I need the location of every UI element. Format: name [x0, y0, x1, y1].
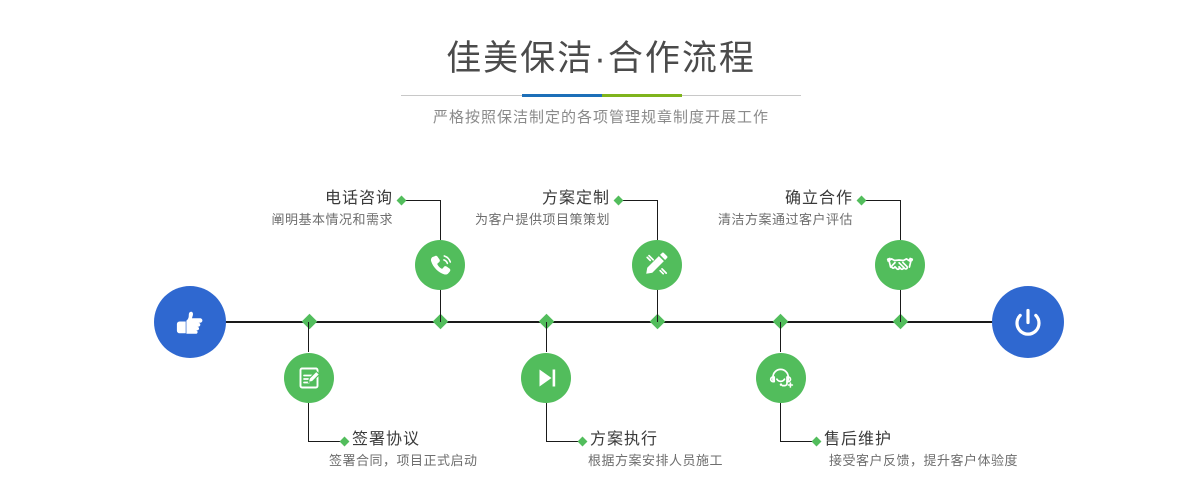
step-4-connector-v: [546, 403, 547, 441]
step-6-title: 售后维护: [824, 429, 1124, 451]
step-5-connector-h: [865, 200, 901, 201]
page-title: 佳美保洁·合作流程: [0, 36, 1202, 81]
process-flow-infographic: 佳美保洁·合作流程 严格按照保洁制定的各项管理规章制度开展工作: [0, 0, 1202, 502]
title-divider: [401, 94, 801, 97]
step-1-stem: [440, 285, 441, 322]
step-6-label: 售后维护 接受客户反馈，提升客户体验度: [824, 429, 1124, 471]
power-icon: [1008, 302, 1048, 342]
step-4-node: [521, 353, 571, 403]
timeline-start-node: [154, 286, 226, 358]
step-3-stem: [657, 285, 658, 322]
headset-support-icon: [766, 363, 796, 393]
step-1-node: [415, 240, 465, 290]
step-1-title: 电话咨询: [150, 188, 393, 210]
step-2-title: 签署协议: [352, 429, 612, 451]
pointing-hand-icon: [170, 302, 210, 342]
step-6-desc: 接受客户反馈，提升客户体验度: [829, 451, 1124, 471]
divider-segment-green: [602, 94, 682, 97]
step-4-label: 方案执行 根据方案安排人员施工: [590, 429, 855, 471]
step-6-node: [756, 353, 806, 403]
axis-marker-1: [302, 314, 318, 330]
play-skip-icon: [531, 363, 561, 393]
step-5-stem: [900, 285, 901, 322]
step-2-desc: 签署合同，项目正式启动: [329, 451, 612, 471]
step-3-title: 方案定制: [365, 188, 610, 210]
divider-segment-blue: [522, 94, 602, 97]
step-5-label: 确立合作 清洁方案通过客户评估: [608, 188, 853, 230]
step-1-label: 电话咨询 阐明基本情况和需求: [150, 188, 393, 230]
step-4-stem: [546, 322, 547, 352]
step-5-title: 确立合作: [608, 188, 853, 210]
step-2-connector-v: [308, 403, 309, 441]
step-5-label-dot: [857, 196, 867, 206]
step-1-desc: 阐明基本情况和需求: [150, 210, 393, 230]
step-3-node: [632, 240, 682, 290]
handshake-icon: [885, 250, 915, 280]
step-4-desc: 根据方案安排人员施工: [588, 451, 855, 471]
step-3-label: 方案定制 为客户提供项目策策划: [365, 188, 610, 230]
step-5-connector-v: [900, 200, 901, 240]
step-2-stem: [308, 322, 309, 352]
step-2-label-dot: [340, 437, 350, 447]
step-5-desc: 清洁方案通过客户评估: [608, 210, 853, 230]
step-3-desc: 为客户提供项目策策划: [365, 210, 610, 230]
step-2-node: [284, 353, 334, 403]
phone-call-icon: [425, 250, 455, 280]
step-5-node: [875, 240, 925, 290]
document-edit-icon: [294, 363, 324, 393]
pencil-ruler-icon: [642, 250, 672, 280]
step-2-label: 签署协议 签署合同，项目正式启动: [352, 429, 612, 471]
step-6-stem: [780, 322, 781, 352]
page-subtitle: 严格按照保洁制定的各项管理规章制度开展工作: [0, 107, 1202, 129]
step-6-connector-v: [780, 403, 781, 441]
timeline-end-node: [992, 286, 1064, 358]
